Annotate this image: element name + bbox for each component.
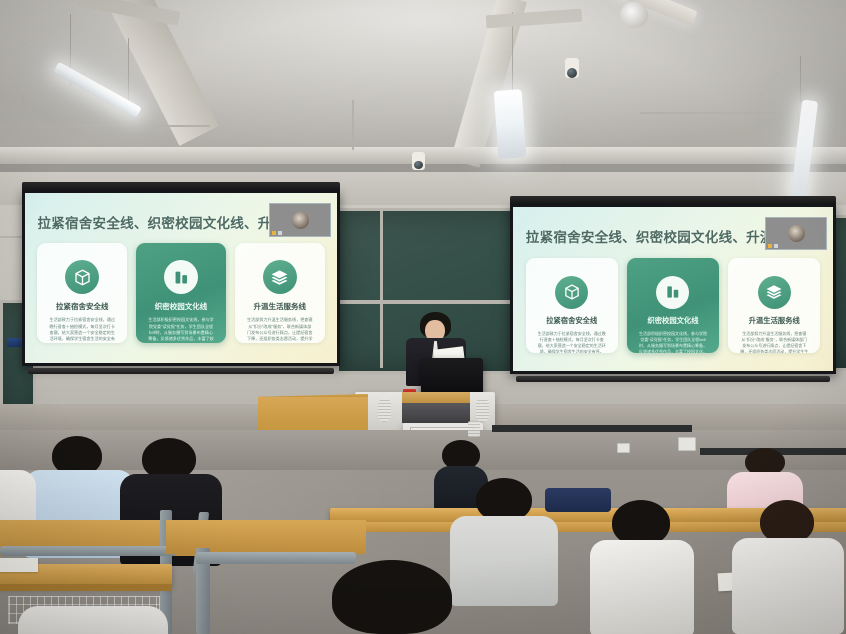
slide-card-2-title-right: 织密校园文化线	[647, 316, 698, 326]
conduit-left	[0, 125, 210, 127]
projection-screen-left: 拉紧宿舍安全线、织密校园文化线、升温生活 拉紧宿舍安全线 生活部致力于拉紧宿舍安…	[22, 182, 340, 382]
student-mid-2	[612, 500, 716, 634]
papers-on-desk	[0, 558, 38, 572]
vc-status-chip-2	[278, 231, 282, 235]
cube-icon	[555, 276, 588, 309]
student-front-2	[18, 606, 168, 634]
slide-card-2-body-right: 生活部积极织密校园文化线，参与学院党委"读党报"任务，学生团队全程helf时，从…	[639, 331, 707, 353]
slide-card-3-right: 升温生活服务线 生活部努力升温生活服务线，把查寝从"扣分"改成"服务"，联合新媒…	[728, 258, 820, 353]
console-speaker-right	[476, 398, 489, 422]
slide-card-2-right: 织密校园文化线 生活部积极织密校园文化线，参与学院党委"读党报"任务，学生团队全…	[627, 258, 719, 353]
participant-avatar	[292, 212, 309, 229]
seat-arm-left	[0, 546, 176, 556]
console-worktop	[402, 392, 470, 403]
slide-right: 拉紧宿舍安全线、织密校园文化线、升温生活 拉紧宿舍安全线 生活部致力于拉紧宿舍安…	[513, 207, 833, 371]
wall-speaker	[468, 421, 480, 437]
console-panel	[402, 403, 470, 423]
layers-icon	[263, 260, 297, 294]
slide-card-1: 拉紧宿舍安全线 生活部致力于拉紧宿舍安全线，通过晚行晋查＋抽检模式，每月坚次打卡…	[37, 243, 127, 343]
video-call-window[interactable]	[269, 203, 331, 237]
slide-card-3-body-right: 生活部努力升温生活服务线，把查寝从"扣分"改成"服务"，联合新媒体部门发布公众号…	[740, 331, 808, 353]
student-mid-3	[760, 500, 846, 634]
slide-card-1-title: 拉紧宿舍安全线	[56, 301, 109, 312]
slide-card-1-right: 拉紧宿舍安全线 生活部致力于拉紧宿舍安全线，通过晚行晋查＋抽检模式，每月坚次打卡…	[526, 258, 618, 353]
fluorescent-tube-2	[494, 89, 527, 159]
projection-screen-right: 拉紧宿舍安全线、织密校园文化线、升温生活 拉紧宿舍安全线 生活部致力于拉紧宿舍安…	[510, 196, 836, 388]
slide-card-2-body: 生活部积极织密校园文化线，参与学院党委"读党报"任务，学生团队全程helf时，从…	[148, 317, 215, 343]
wall-outlet-1[interactable]	[617, 443, 630, 453]
student-front-1	[332, 560, 452, 634]
video-call-window-right[interactable]	[765, 217, 827, 250]
vc-status-chip-2	[774, 244, 778, 248]
student-mid-1	[476, 478, 584, 612]
ceiling	[0, 0, 846, 205]
slide-card-1-title-right: 拉紧宿舍安全线	[546, 316, 597, 326]
slide-card-3-title-right: 升温生活服务线	[749, 316, 800, 326]
book-chart-icon	[656, 276, 689, 309]
cube-icon	[65, 260, 99, 294]
slide-card-2-title: 织密校园文化线	[155, 301, 208, 312]
slide-card-1-body-right: 生活部致力于拉紧宿舍安全线，通过晚行晋查＋抽检模式，每月坚次打卡查寝，给大家营造…	[538, 331, 606, 353]
book-chart-icon	[164, 260, 198, 294]
classroom-photo: 拉紧宿舍安全线、织密校园文化线、升温生活 拉紧宿舍安全线 生活部致力于拉紧宿舍安…	[0, 0, 846, 634]
slide-cards-right: 拉紧宿舍安全线 生活部致力于拉紧宿舍安全线，通过晚行晋查＋抽检模式，每月坚次打卡…	[526, 258, 820, 353]
layers-icon	[758, 276, 791, 309]
slide-card-1-body: 生活部致力于拉紧宿舍安全线，通过晚行晋查＋抽检模式，每月坚次打卡查寝，给大家营造…	[49, 317, 116, 343]
ceiling-camera-2	[412, 152, 425, 170]
ceiling-camera-1	[565, 58, 579, 78]
console-speaker-left	[378, 398, 391, 422]
slide-card-3-title: 升温生活服务线	[254, 301, 307, 312]
slide-card-2: 织密校园文化线 生活部积极织密校园文化线，参与学院党委"读党报"任务，学生团队全…	[136, 243, 226, 343]
participant-avatar	[788, 225, 805, 242]
slide-card-3-body: 生活部努力升温生活服务线，把查寝从"扣分"改成"服务"，联合新媒体部门发布公众号…	[246, 317, 313, 343]
vc-status-chip	[768, 244, 772, 248]
podium-monitor	[421, 358, 483, 396]
vc-status-chip	[272, 231, 276, 235]
slide-card-3: 升温生活服务线 生活部努力升温生活服务线，把查寝从"扣分"改成"服务"，联合新媒…	[235, 243, 325, 343]
slide-left: 拉紧宿舍安全线、织密校园文化线、升温生活 拉紧宿舍安全线 生活部致力于拉紧宿舍安…	[25, 193, 337, 363]
wall-outlet-2[interactable]	[678, 437, 696, 451]
slide-cards: 拉紧宿舍安全线 生活部致力于拉紧宿舍安全线，通过晚行晋查＋抽检模式，每月坚次打卡…	[37, 243, 324, 343]
